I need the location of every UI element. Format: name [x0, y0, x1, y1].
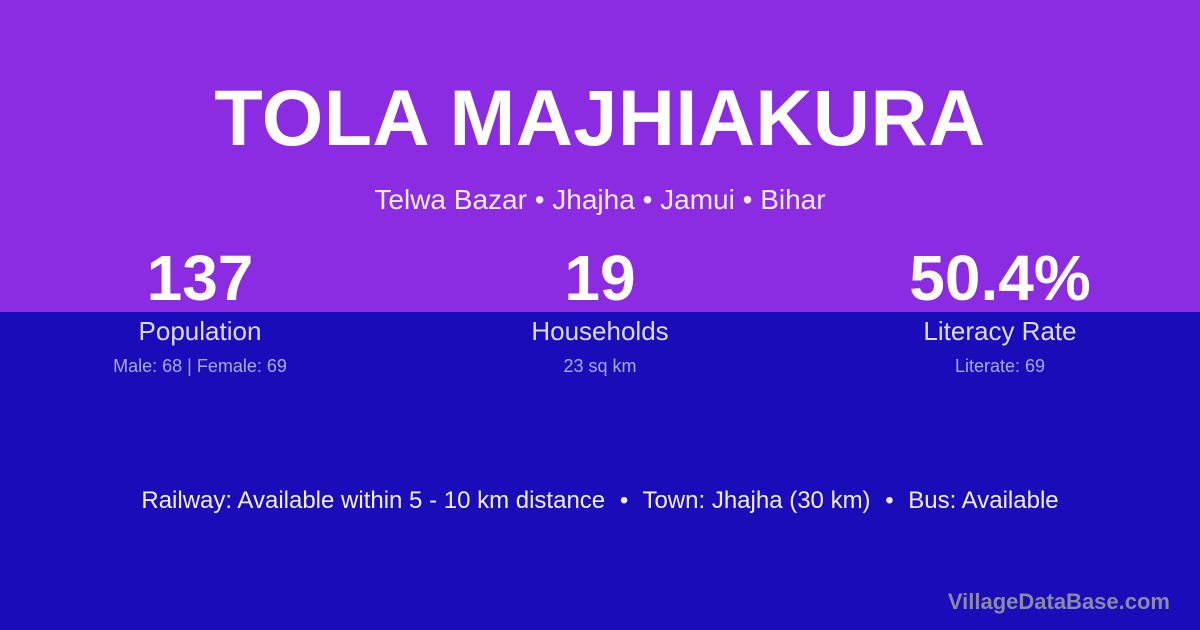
stat-population-sub: Male: 68 | Female: 69	[0, 355, 400, 377]
stat-households-label: Households	[400, 316, 800, 346]
stat-population-label: Population	[0, 316, 400, 346]
stat-households-sub: 23 sq km	[400, 355, 800, 377]
stats-row: 137 Population Male: 68 | Female: 69 19 …	[0, 244, 1200, 377]
breadcrumb: Telwa Bazar • Jhajha • Jamui • Bihar	[0, 183, 1200, 217]
info-separator-2: •	[877, 486, 901, 516]
info-bus: Bus: Available	[908, 487, 1058, 514]
info-railway: Railway: Available within 5 - 10 km dist…	[141, 487, 605, 514]
site-brand-watermark: VillageDataBase.com	[948, 589, 1170, 615]
connectivity-info-line: Railway: Available within 5 - 10 km dist…	[0, 486, 1200, 516]
stat-population: 137 Population Male: 68 | Female: 69	[0, 244, 400, 377]
stat-literacy-rate-label: Literacy Rate	[800, 316, 1200, 346]
info-separator-1: •	[612, 486, 636, 516]
stat-population-value: 137	[0, 244, 400, 312]
stat-literacy-rate-sub: Literate: 69	[800, 355, 1200, 377]
stat-households-value: 19	[400, 244, 800, 312]
page-title: TOLA MAJHIAKURA	[0, 78, 1200, 157]
stat-literacy-rate: 50.4% Literacy Rate Literate: 69	[800, 244, 1200, 377]
info-town: Town: Jhajha (30 km)	[642, 487, 870, 514]
stat-literacy-rate-value: 50.4%	[800, 244, 1200, 312]
stat-households: 19 Households 23 sq km	[400, 244, 800, 377]
village-info-card: TOLA MAJHIAKURA Telwa Bazar • Jhajha • J…	[0, 0, 1200, 630]
